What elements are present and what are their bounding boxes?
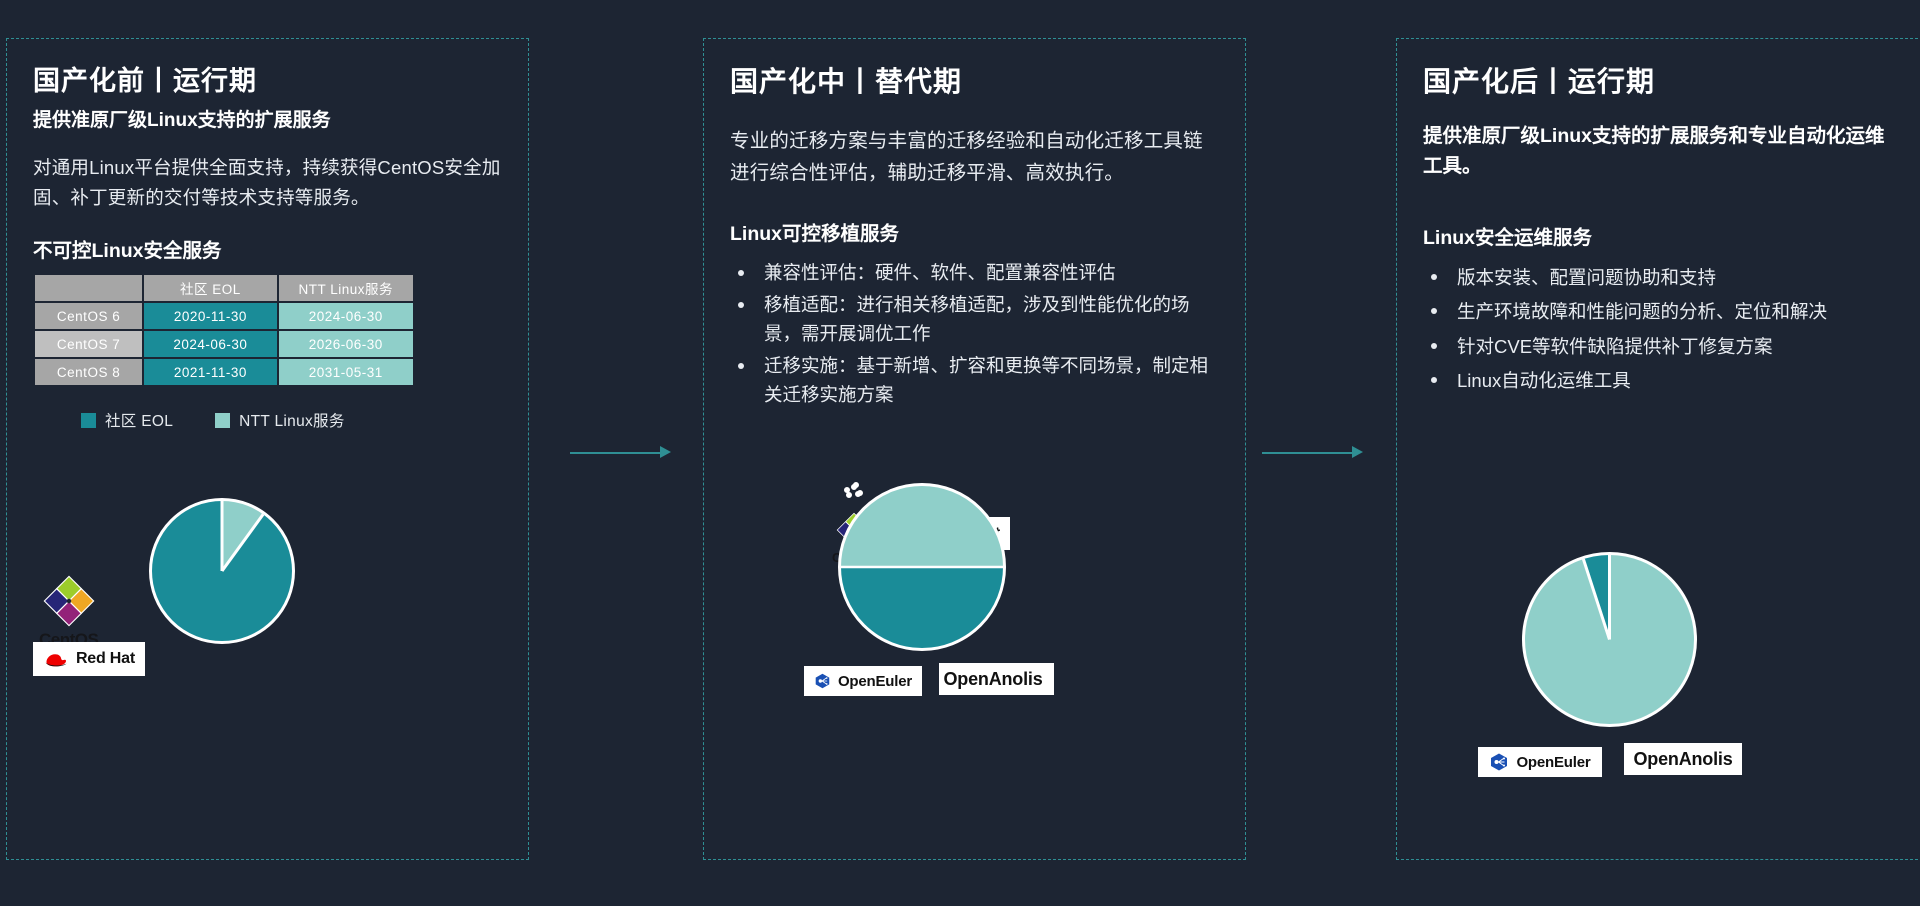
list-item: 兼容性评估：硬件、软件、配置兼容性评估 bbox=[730, 258, 1219, 288]
centos-icon bbox=[41, 573, 97, 629]
list-item: Linux自动化运维工具 bbox=[1423, 365, 1896, 397]
arrow-right-icon bbox=[1352, 446, 1363, 458]
openanolis-logo-label: OpenAnolis bbox=[1634, 749, 1733, 770]
section-head-after: Linux安全运维服务 bbox=[1423, 221, 1896, 250]
cell-ntt: 2031-05-31 bbox=[279, 359, 413, 385]
cell-ntt: 2026-06-30 bbox=[279, 331, 413, 357]
list-item: 版本安装、配置问题协助和支持 bbox=[1423, 262, 1896, 294]
phase-card-before: 国产化前丨运行期 提供准原厂级Linux支持的扩展服务 对通用Linux平台提供… bbox=[6, 38, 529, 860]
table-row: CentOS 7 2024-06-30 2026-06-30 bbox=[35, 331, 413, 357]
arrow-1-line bbox=[570, 452, 660, 454]
legend-item-community-eol: 社区 EOL bbox=[81, 409, 173, 431]
centos-logo: CentOS bbox=[39, 573, 98, 650]
section-head-during: Linux可控移植服务 bbox=[730, 217, 1219, 246]
table-row: CentOS 8 2021-11-30 2031-05-31 bbox=[35, 359, 413, 385]
openeuler-logo: OpenEuler bbox=[804, 666, 922, 696]
page-title-before: 国产化前丨运行期 bbox=[33, 65, 502, 97]
legend-swatch-icon bbox=[215, 413, 230, 428]
table-header-blank bbox=[35, 275, 142, 301]
list-item: 生产环境故障和性能问题的分析、定位和解决 bbox=[1423, 296, 1896, 328]
pie-separators-icon bbox=[1525, 555, 1694, 724]
list-item: 针对CVE等软件缺陷提供补丁修复方案 bbox=[1423, 331, 1896, 363]
eol-table: 社区 EOL NTT Linux服务 CentOS 6 2020-11-30 2… bbox=[33, 273, 415, 387]
legend-label: NTT Linux服务 bbox=[239, 409, 345, 431]
openanolis-logo-label: OpenAnolis bbox=[944, 669, 1043, 690]
table-row: CentOS 6 2020-11-30 2024-06-30 bbox=[35, 303, 413, 329]
section-head-before: 不可控Linux安全服务 bbox=[33, 234, 502, 263]
redhat-logo: Red Hat bbox=[33, 642, 145, 676]
bullet-list-during: 兼容性评估：硬件、软件、配置兼容性评估 移植适配：进行相关移植适配，涉及到性能优… bbox=[730, 258, 1219, 410]
pie-legend: 社区 EOL NTT Linux服务 bbox=[81, 409, 502, 431]
openeuler-icon bbox=[1489, 752, 1509, 772]
openeuler-logo: OpenEuler bbox=[1478, 747, 1602, 777]
phase-card-after: 国产化后丨运行期 提供准原厂级Linux支持的扩展服务和专业自动化运维工具。 L… bbox=[1396, 38, 1920, 860]
slide-canvas: 国产化前丨运行期 提供准原厂级Linux支持的扩展服务 对通用Linux平台提供… bbox=[0, 0, 1920, 906]
description-before: 对通用Linux平台提供全面支持，持续获得CentOS安全加固、补丁更新的交付等… bbox=[33, 153, 502, 212]
cell-os: CentOS 7 bbox=[35, 331, 142, 357]
table-header-eol: 社区 EOL bbox=[144, 275, 276, 301]
pie-chart-after bbox=[1522, 552, 1697, 727]
arrow-2-line bbox=[1262, 452, 1352, 454]
cell-os: CentOS 6 bbox=[35, 303, 142, 329]
openanolis-logo: OpenAnolis bbox=[939, 663, 1054, 695]
legend-swatch-icon bbox=[81, 413, 96, 428]
table-header-row: 社区 EOL NTT Linux服务 bbox=[35, 275, 413, 301]
pie-separators-icon bbox=[841, 486, 1003, 648]
openeuler-icon bbox=[814, 671, 831, 691]
subtitle-after: 提供准原厂级Linux支持的扩展服务和专业自动化运维工具。 bbox=[1423, 121, 1896, 181]
page-title-during: 国产化中丨替代期 bbox=[730, 65, 1219, 99]
subtitle-before: 提供准原厂级Linux支持的扩展服务 bbox=[33, 107, 502, 135]
openanolis-logo: OpenAnolis bbox=[1624, 743, 1742, 775]
pie-separators-icon bbox=[152, 501, 292, 641]
bullet-list-after: 版本安装、配置问题协助和支持 生产环境故障和性能问题的分析、定位和解决 针对CV… bbox=[1423, 262, 1896, 398]
cell-os: CentOS 8 bbox=[35, 359, 142, 385]
openeuler-logo-label: OpenEuler bbox=[838, 673, 912, 690]
pie-chart-before bbox=[149, 498, 295, 644]
cell-eol: 2021-11-30 bbox=[144, 359, 276, 385]
list-item: 迁移实施：基于新增、扩容和更换等不同场景，制定相关迁移实施方案 bbox=[730, 351, 1219, 410]
redhat-logo-label: Red Hat bbox=[76, 650, 135, 668]
openanolis-text: OpenAnolis bbox=[944, 669, 1043, 689]
table-header-ntt: NTT Linux服务 bbox=[279, 275, 413, 301]
redhat-fedora-icon bbox=[43, 649, 69, 669]
description-during: 专业的迁移方案与丰富的迁移经验和自动化迁移工具链进行综合性评估，辅助迁移平滑、高… bbox=[730, 125, 1219, 189]
legend-label: 社区 EOL bbox=[105, 409, 173, 431]
list-item: 移植适配：进行相关移植适配，涉及到性能优化的场景，需开展调优工作 bbox=[730, 290, 1219, 349]
openeuler-logo-label: OpenEuler bbox=[1516, 754, 1590, 771]
cell-eol: 2020-11-30 bbox=[144, 303, 276, 329]
phase-card-during: 国产化中丨替代期 专业的迁移方案与丰富的迁移经验和自动化迁移工具链进行综合性评估… bbox=[703, 38, 1246, 860]
cell-eol: 2024-06-30 bbox=[144, 331, 276, 357]
cell-ntt: 2024-06-30 bbox=[279, 303, 413, 329]
page-title-after: 国产化后丨运行期 bbox=[1423, 65, 1896, 99]
legend-item-ntt-linux: NTT Linux服务 bbox=[215, 409, 345, 431]
pie-chart-during bbox=[838, 483, 1006, 651]
arrow-right-icon bbox=[660, 446, 671, 458]
